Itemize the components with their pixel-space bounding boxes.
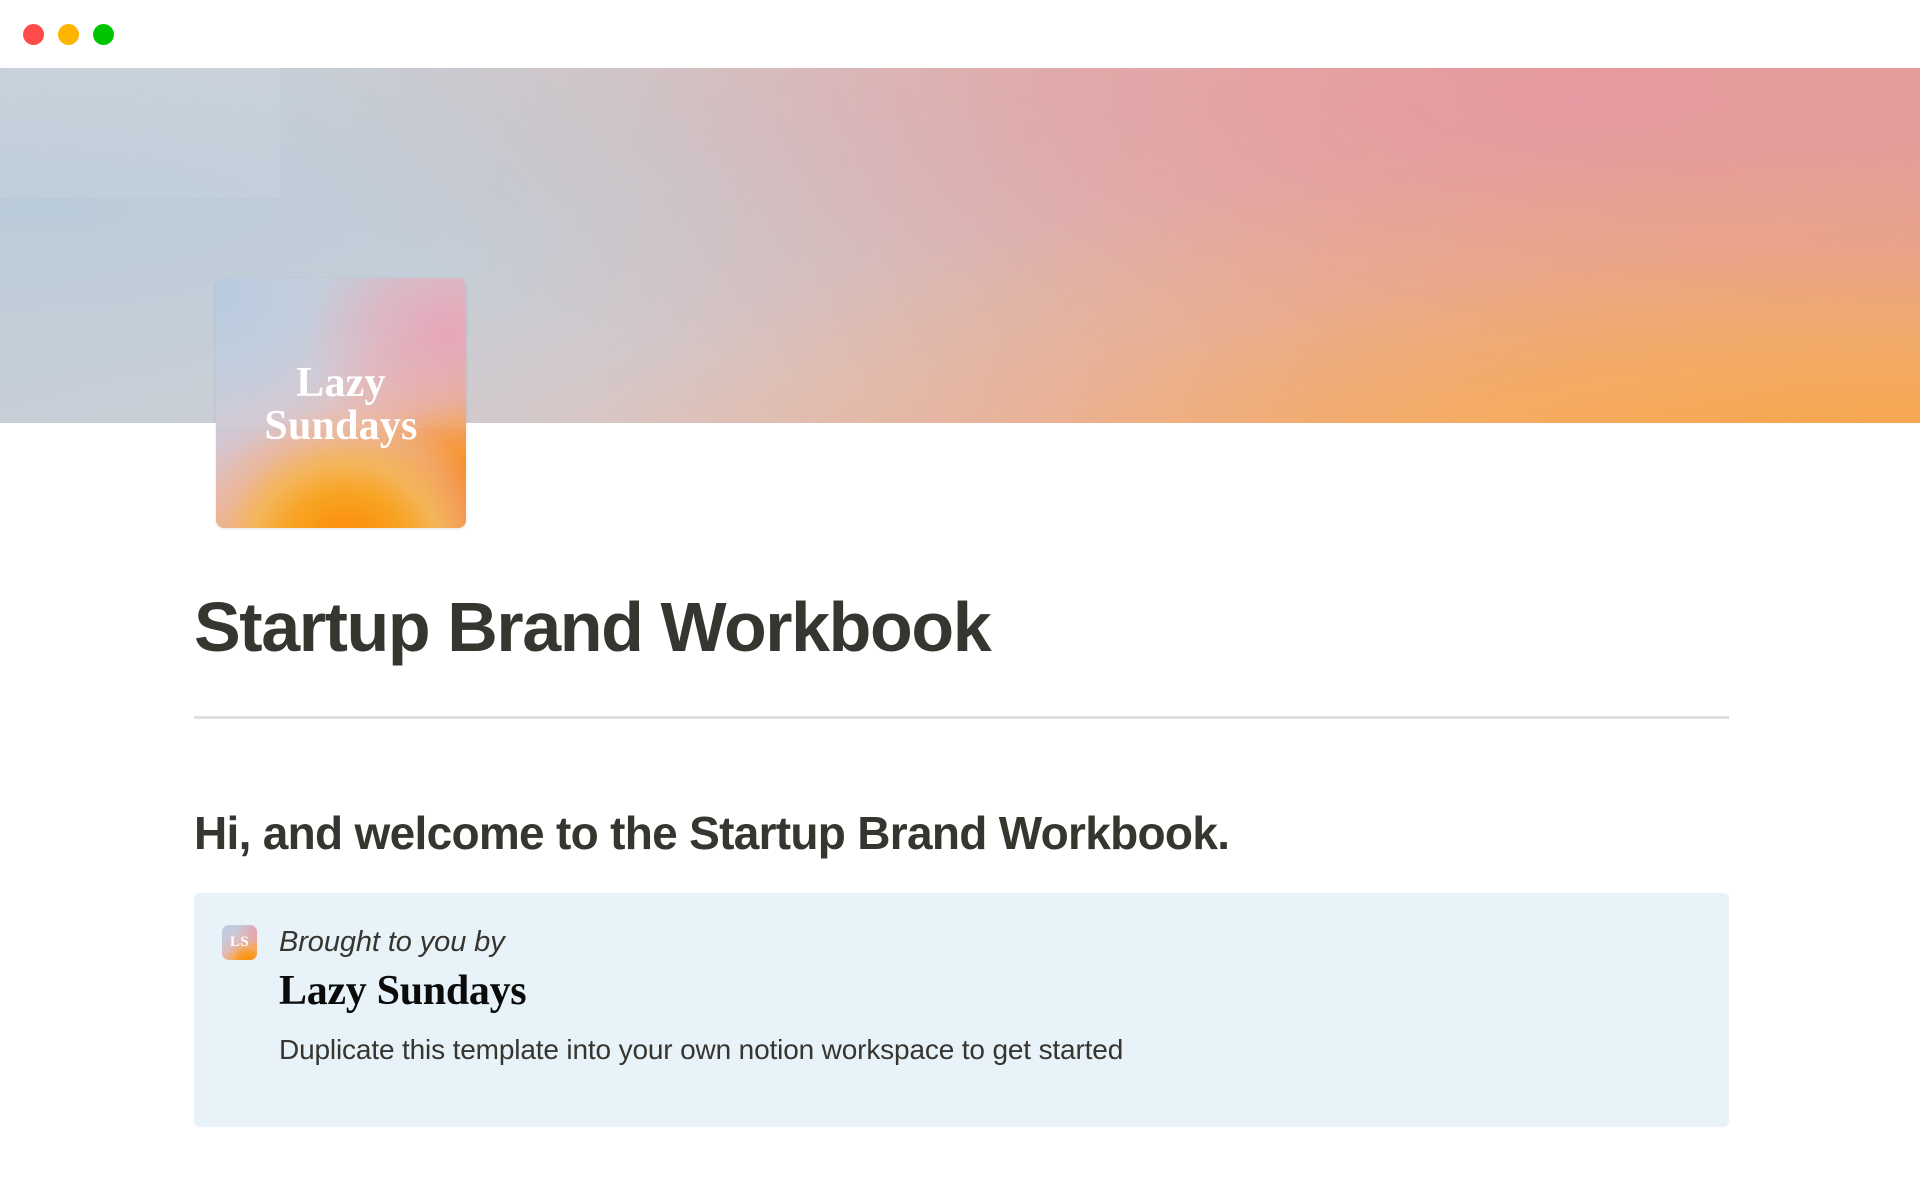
close-window-button[interactable]: [23, 24, 44, 45]
section-divider: [194, 716, 1729, 719]
page-icon-wordmark-line2: Sundays: [264, 405, 417, 448]
badge-initials: LS: [222, 925, 257, 960]
zoom-window-button[interactable]: [93, 24, 114, 45]
cover-grain-texture: [0, 68, 280, 198]
minimize-window-button[interactable]: [58, 24, 79, 45]
page-icon-wordmark-line1: Lazy: [296, 362, 385, 405]
page-body: Startup Brand Workbook Hi, and welcome t…: [0, 423, 1920, 1200]
callout-header-row: LS Brought to you by: [222, 925, 1695, 960]
app-window: Lazy Sundays Startup Brand Workbook Hi, …: [0, 0, 1920, 1200]
callout-description: Duplicate this template into your own no…: [279, 1031, 1695, 1069]
callout-brand-name: Lazy Sundays: [279, 968, 1695, 1015]
page-icon-wordmark: Lazy Sundays: [216, 278, 466, 528]
welcome-heading[interactable]: Hi, and welcome to the Startup Brand Wor…: [194, 805, 1729, 863]
page-title[interactable]: Startup Brand Workbook: [194, 591, 1729, 664]
callout-eyebrow-text: Brought to you by: [279, 925, 505, 960]
page-icon[interactable]: Lazy Sundays: [216, 278, 466, 528]
page-content-column: Startup Brand Workbook Hi, and welcome t…: [194, 423, 1729, 1127]
window-titlebar: [0, 0, 1920, 68]
traffic-light-controls: [23, 24, 114, 45]
lazy-sundays-badge-icon: LS: [222, 925, 257, 960]
callout-block[interactable]: LS Brought to you by Lazy Sundays Duplic…: [194, 893, 1729, 1127]
